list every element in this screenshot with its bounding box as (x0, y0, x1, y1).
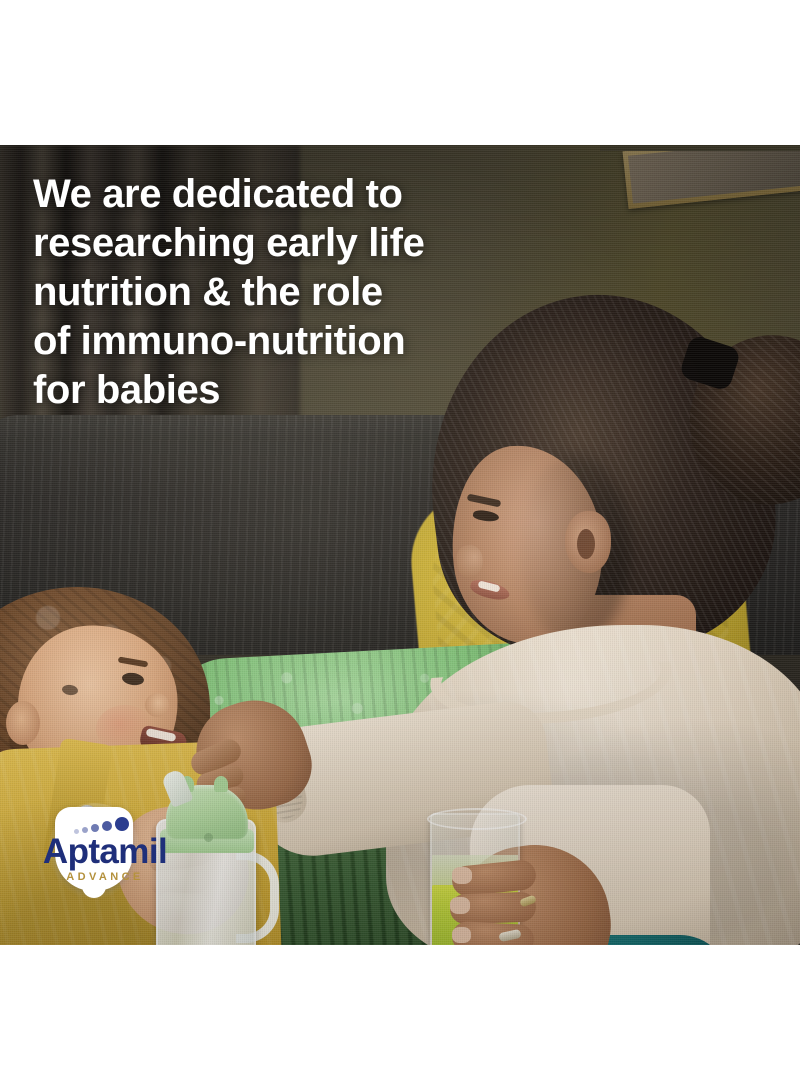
headline-line-2: researching early life (33, 219, 463, 268)
mother-fingernail (452, 867, 472, 884)
logo-brand-name: Aptamil (30, 834, 180, 869)
headline-line-1: We are dedicated to (33, 170, 463, 219)
headline-line-3: nutrition & the role (33, 268, 463, 317)
glass-rim (427, 808, 527, 830)
logo-dot (91, 824, 99, 832)
toddler-ear (6, 701, 40, 745)
toddler-nose (145, 693, 169, 717)
headline: We are dedicated to researching early li… (33, 170, 463, 415)
logo-dot (115, 817, 129, 831)
aptamil-logo: Aptamil ADVANCE (30, 803, 180, 899)
logo-sub-name: ADVANCE (30, 871, 180, 883)
mother-fingernail (452, 927, 471, 943)
aptamil-advance-banner: We are dedicated to researching early li… (0, 0, 800, 1091)
mother-ear (565, 511, 611, 573)
headline-line-4: of immuno-nutrition (33, 317, 463, 366)
sippy-cup-tab (214, 776, 228, 792)
mother-fingernail (450, 897, 470, 914)
logo-dot (102, 821, 112, 831)
wall-mask (600, 145, 800, 151)
headline-line-5: for babies (33, 366, 463, 415)
sippy-cup-vent (204, 833, 213, 842)
